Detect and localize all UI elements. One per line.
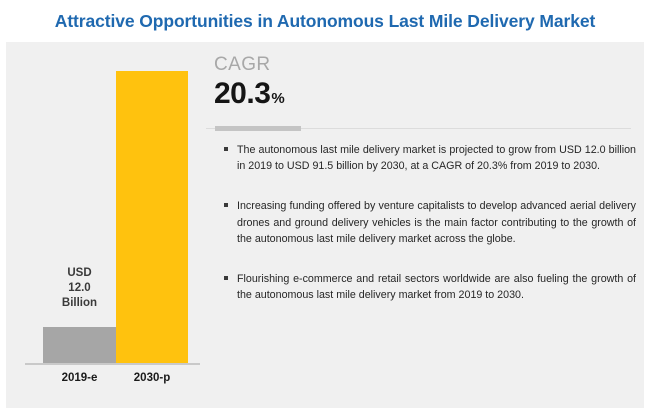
cagr-percent-sign: % <box>271 90 284 107</box>
cagr-value: 20.3 <box>214 77 270 111</box>
bar-value-label-2019: USD 12.0 Billion <box>43 266 116 311</box>
bar-chart: USD 12.0 Billion USD 91.5 Billion 2019-e… <box>6 42 206 408</box>
list-item-text: Flourishing e-commerce and retail sector… <box>237 273 636 301</box>
title-band: Attractive Opportunities in Autonomous L… <box>0 0 650 42</box>
list-item-text: The autonomous last mile delivery market… <box>237 144 636 172</box>
content-column: CAGR 20.3 % The autonomous last mile del… <box>206 42 644 408</box>
divider-accent-segment <box>215 126 301 131</box>
bar-value-line3: Billion <box>43 296 116 311</box>
square-bullet-icon <box>224 147 228 151</box>
bar-value-line1: USD <box>43 266 116 281</box>
bar-2019-e <box>43 327 116 363</box>
bullet-list: The autonomous last mile delivery market… <box>224 142 636 303</box>
list-item: Increasing funding offered by venture ca… <box>224 198 636 247</box>
infographic-root: Attractive Opportunities in Autonomous L… <box>0 0 650 414</box>
page-title: Attractive Opportunities in Autonomous L… <box>55 11 595 32</box>
body-panel: USD 12.0 Billion USD 91.5 Billion 2019-e… <box>6 42 644 408</box>
bar-value-line2: 12.0 <box>43 281 116 296</box>
cagr-value-row: 20.3 % <box>214 77 634 111</box>
bar-2030-p <box>116 71 188 363</box>
cagr-label: CAGR <box>214 54 634 76</box>
list-item-text: Increasing funding offered by venture ca… <box>237 200 636 244</box>
x-axis-tick-label-2030: 2030-p <box>116 372 188 384</box>
square-bullet-icon <box>224 276 228 280</box>
list-item: The autonomous last mile delivery market… <box>224 142 636 174</box>
cagr-block: CAGR 20.3 % <box>214 54 634 111</box>
x-axis-line <box>25 363 200 365</box>
divider-rule <box>206 126 631 131</box>
x-axis-tick-label-2019: 2019-e <box>43 372 116 384</box>
list-item: Flourishing e-commerce and retail sector… <box>224 271 636 303</box>
square-bullet-icon <box>224 203 228 207</box>
